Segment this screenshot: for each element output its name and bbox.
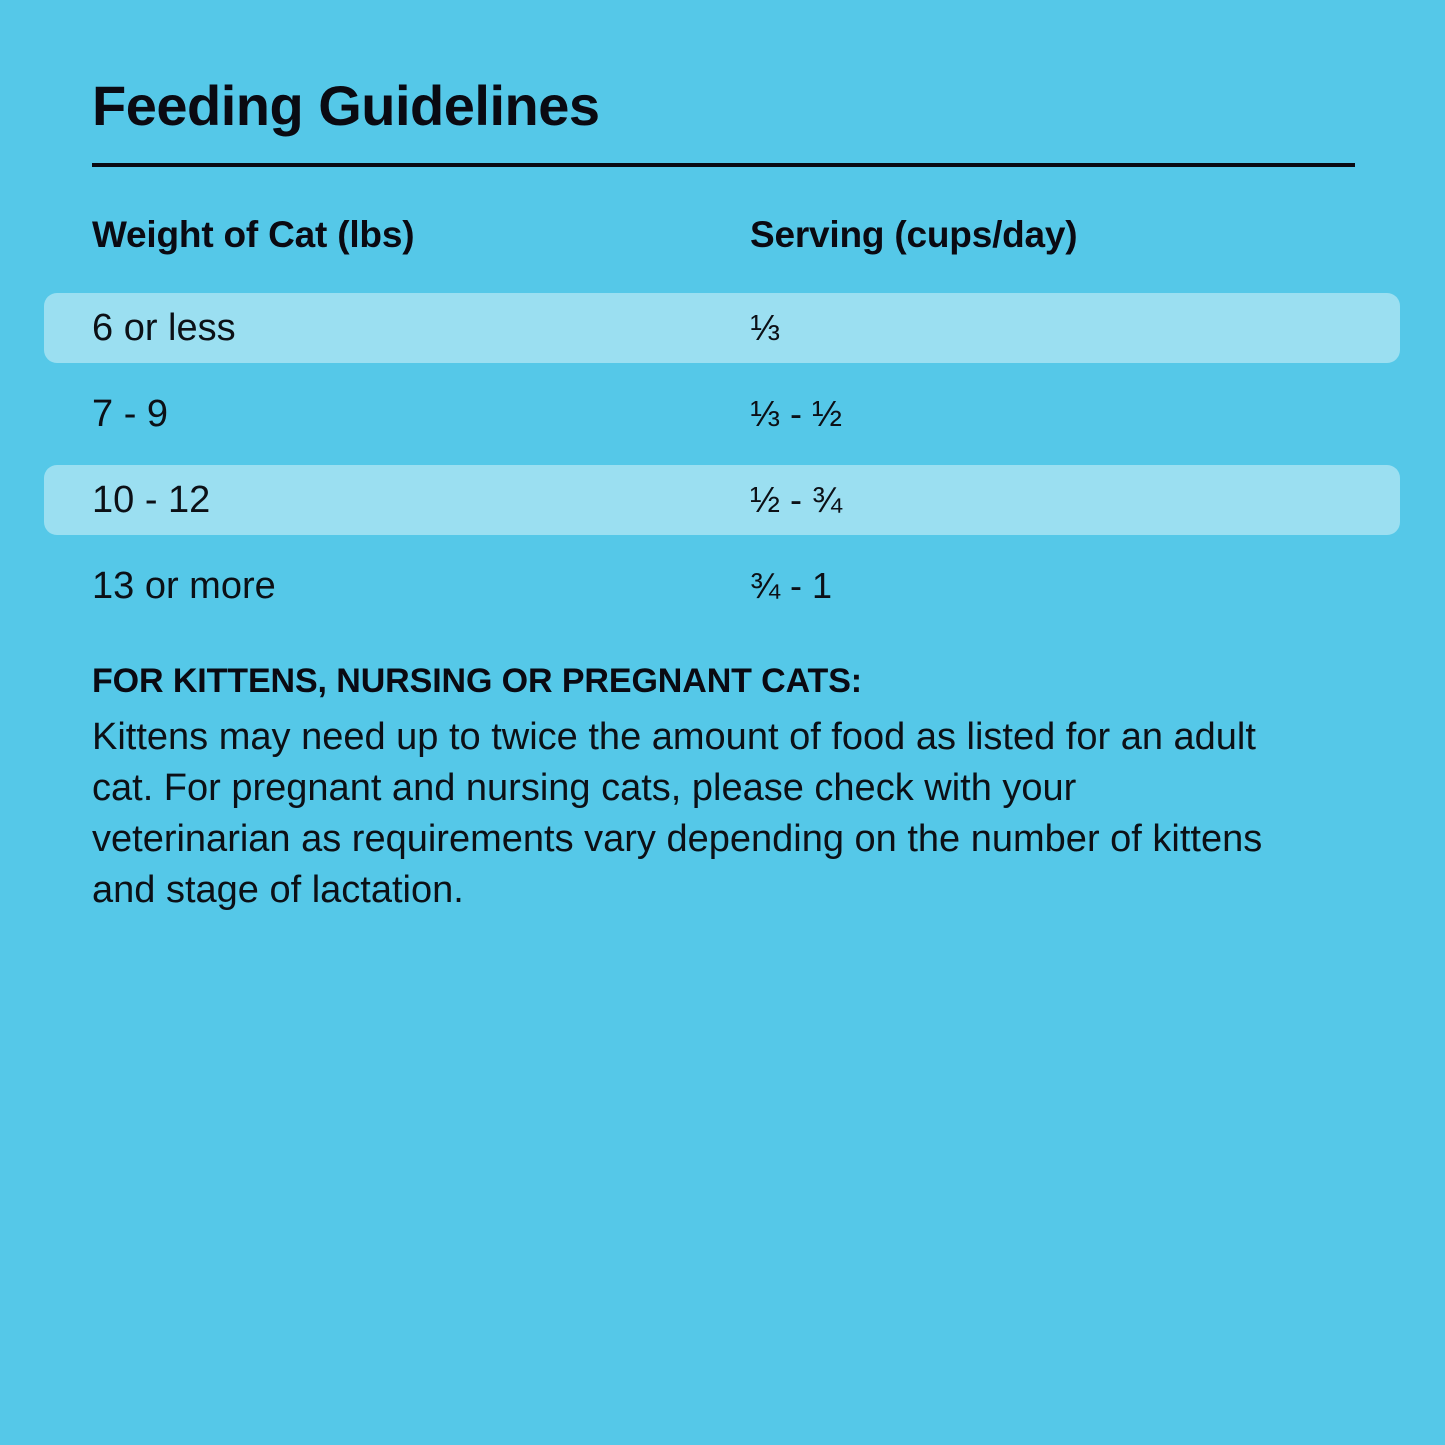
kitten-note: FOR KITTENS, NURSING OR PREGNANT CATS: K…	[92, 657, 1292, 916]
page-title: Feeding Guidelines	[92, 78, 600, 134]
table-row: 13 or more ¾ - 1	[0, 551, 1445, 637]
row-highlight-band	[44, 293, 1400, 363]
table-row: 10 - 12 ½ - ¾	[0, 465, 1445, 551]
table-row: 6 or less ⅓	[0, 293, 1445, 379]
cell-serving: ½ - ¾	[750, 474, 842, 526]
column-header-weight: Weight of Cat (lbs)	[92, 214, 414, 256]
table-row: 7 - 9 ⅓ - ½	[0, 379, 1445, 465]
row-highlight-band	[44, 379, 1400, 449]
feeding-table: Weight of Cat (lbs) Serving (cups/day) 6…	[0, 206, 1445, 637]
row-highlight-band	[44, 465, 1400, 535]
kitten-note-heading: FOR KITTENS, NURSING OR PREGNANT CATS:	[92, 657, 1292, 705]
column-header-serving: Serving (cups/day)	[750, 214, 1077, 256]
cell-weight: 13 or more	[92, 560, 276, 612]
cell-weight: 6 or less	[92, 302, 236, 354]
cell-serving: ⅓ - ½	[750, 388, 842, 440]
table-body: 6 or less ⅓ 7 - 9 ⅓ - ½ 10 - 12 ½ - ¾ 13…	[0, 293, 1445, 637]
title-divider	[92, 163, 1355, 167]
cell-serving: ⅓	[750, 302, 780, 354]
table-header-row: Weight of Cat (lbs) Serving (cups/day)	[0, 206, 1445, 293]
cell-weight: 10 - 12	[92, 474, 210, 526]
cell-serving: ¾ - 1	[750, 560, 832, 612]
feeding-guidelines-panel: Feeding Guidelines Weight of Cat (lbs) S…	[0, 0, 1445, 1445]
cell-weight: 7 - 9	[92, 388, 168, 440]
kitten-note-body: Kittens may need up to twice the amount …	[92, 712, 1267, 916]
